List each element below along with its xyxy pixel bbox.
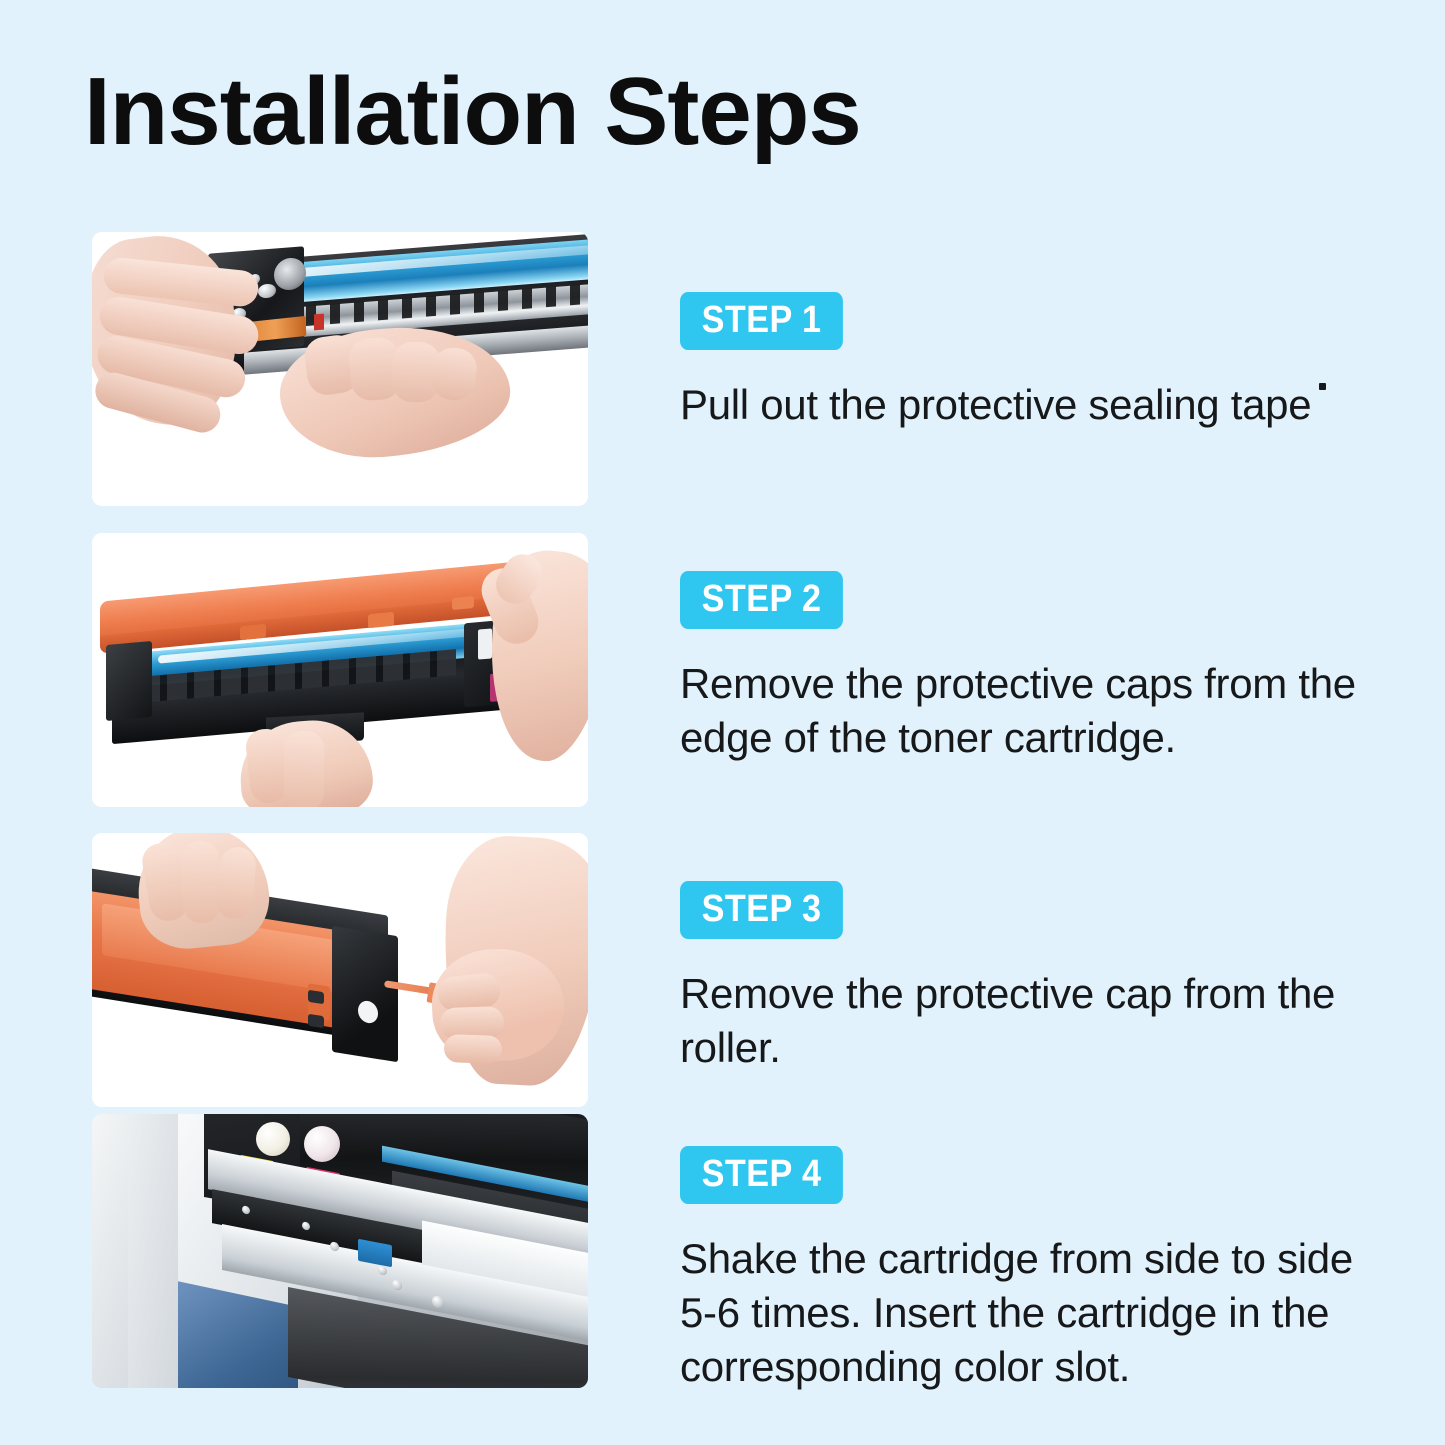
step-image-card xyxy=(92,833,588,1107)
step-row: STEP 1 Pull out the protective sealing t… xyxy=(0,232,1445,506)
step-row: STEP 4 Shake the cartridge from side to … xyxy=(0,1114,1445,1388)
step-caption: Shake the cartridge from side to side 5-… xyxy=(680,1232,1370,1393)
step-row: STEP 2 Remove the protective caps from t… xyxy=(0,533,1445,807)
cap-vent xyxy=(308,990,324,1005)
finger xyxy=(181,840,222,923)
cap-clip xyxy=(452,596,474,610)
magenta-slot-roller xyxy=(304,1126,340,1162)
stray-punctuation-mark xyxy=(1319,383,1326,390)
red-tab xyxy=(314,314,324,331)
step-badge: STEP 4 xyxy=(680,1146,843,1204)
step-image-card xyxy=(92,533,588,807)
step-caption: Remove the protective caps from the edge… xyxy=(680,657,1370,765)
step-text-block: STEP 3 Remove the protective cap from th… xyxy=(680,881,1380,1075)
cap-clip xyxy=(240,624,266,641)
finger xyxy=(444,1034,503,1064)
step-badge: STEP 3 xyxy=(680,881,843,939)
step-badge: STEP 1 xyxy=(680,292,843,350)
step-badge: STEP 2 xyxy=(680,571,843,629)
step-text-block: STEP 1 Pull out the protective sealing t… xyxy=(680,292,1380,432)
step-2-photo xyxy=(92,533,588,807)
cap-vent xyxy=(308,1014,324,1029)
step-caption: Pull out the protective sealing tape xyxy=(680,378,1370,432)
end-contact xyxy=(478,628,492,659)
step-3-photo xyxy=(92,833,588,1107)
step-text-block: STEP 2 Remove the protective caps from t… xyxy=(680,571,1380,765)
cartridge-end-left xyxy=(106,641,152,721)
cartridge-end-right xyxy=(332,926,398,1062)
step-1-photo xyxy=(92,232,588,506)
step-4-photo xyxy=(92,1114,588,1388)
finger xyxy=(283,731,324,807)
step-row: STEP 3 Remove the protective cap from th… xyxy=(0,833,1445,1107)
step-image-card xyxy=(92,232,588,506)
step-image-card xyxy=(92,1114,588,1388)
yellow-slot-roller xyxy=(256,1122,290,1156)
step-caption: Remove the protective cap from the rolle… xyxy=(680,967,1370,1075)
step-text-block: STEP 4 Shake the cartridge from side to … xyxy=(680,1146,1380,1393)
cap-clip xyxy=(368,612,394,629)
installation-steps-list: STEP 1 Pull out the protective sealing t… xyxy=(0,0,1445,1445)
